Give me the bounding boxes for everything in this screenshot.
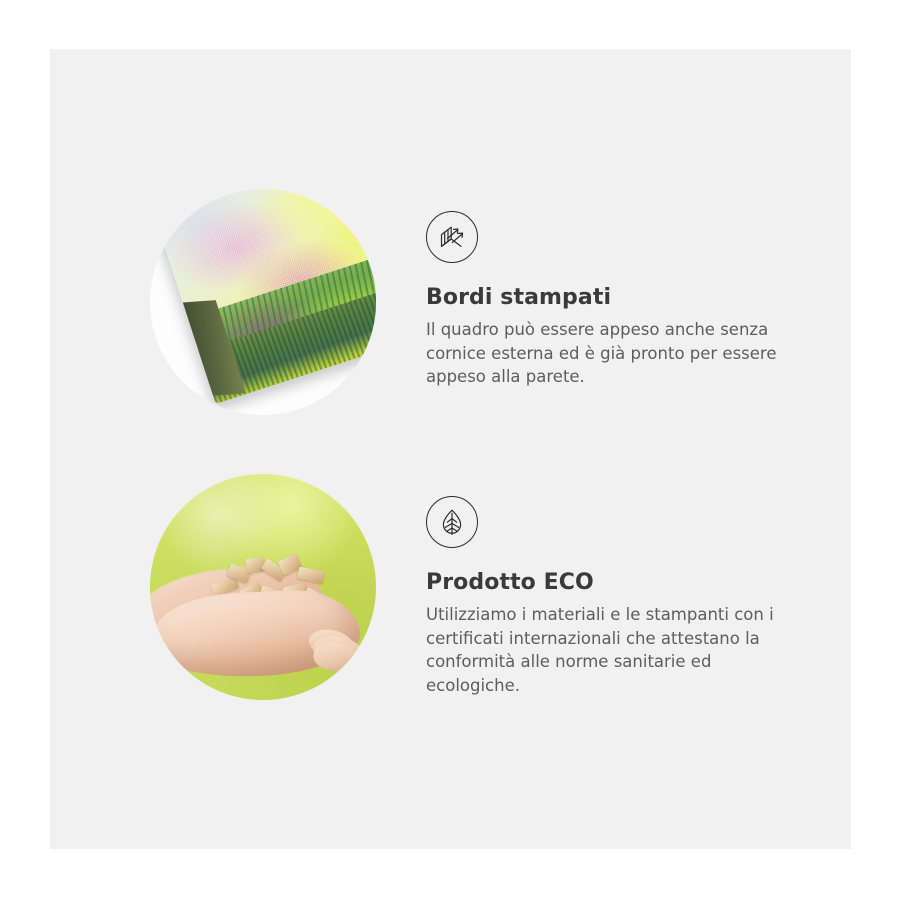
content-panel [50,49,851,849]
canvas-block [150,189,376,404]
canvas-wrapped-edge-icon [426,211,478,263]
eco-photo-wrap [150,474,376,700]
feature-text-column: Prodotto ECO Utilizziamo i materiali e l… [426,474,806,697]
canvas-corner-photo [150,189,376,415]
page-title: Bordi stampati [426,285,806,311]
canvas-corner-photo-wrap [150,189,376,415]
hands-with-wood-chips-photo [150,474,376,700]
feature-description: Il quadro può essere appeso anche senza … [426,318,806,389]
feature-bordi-stampati: Bordi stampati Il quadro può essere appe… [150,189,806,415]
feature-text-column: Bordi stampati Il quadro può essere appe… [426,189,806,389]
page-root: Bordi stampati Il quadro può essere appe… [0,0,900,900]
feature-description: Utilizziamo i materiali e le stampanti c… [426,603,806,697]
feature-prodotto-eco: Prodotto ECO Utilizziamo i materiali e l… [150,474,806,700]
page-title: Prodotto ECO [426,570,806,596]
leaf-icon [426,496,478,548]
